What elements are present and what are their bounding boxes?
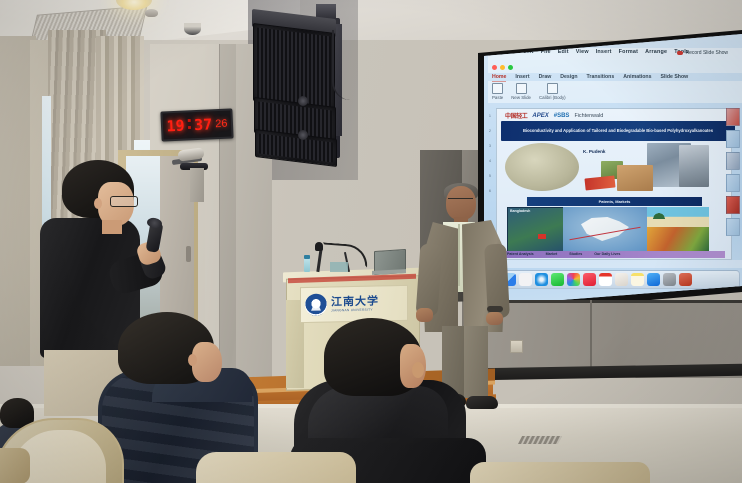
- conference-room-photo: 19 ■■ 37 26 PowerPoint File Edit View In…: [0, 0, 742, 483]
- speaker-hinge: [298, 130, 308, 140]
- red-sample-photo: [584, 175, 615, 190]
- thumb-number-1: 1: [489, 114, 491, 118]
- chair-back[interactable]: [196, 452, 356, 483]
- beach-photo: [647, 207, 709, 228]
- clock-minutes: 37: [194, 115, 213, 134]
- slide-thumbnail[interactable]: [726, 152, 740, 170]
- audience-ear: [188, 354, 197, 366]
- minimize-icon[interactable]: [500, 65, 505, 70]
- questioner-neck: [102, 220, 122, 234]
- presenter-shirt-placket: [458, 224, 460, 286]
- messages-icon[interactable]: [551, 273, 564, 286]
- chair-armrest[interactable]: [0, 448, 30, 483]
- menu-item-arrange[interactable]: Arrange: [645, 49, 667, 55]
- close-icon[interactable]: [492, 65, 497, 70]
- questioner-glasses: [110, 196, 138, 207]
- wall-panel-seam: [590, 300, 592, 374]
- calendar-icon[interactable]: [599, 273, 612, 286]
- slide-thumbnail[interactable]: [726, 130, 740, 148]
- questioner-ear: [94, 198, 102, 209]
- presenter-glasses: [448, 198, 473, 204]
- slide-title-banner: Bioconductivity and Application of Tailo…: [501, 121, 735, 141]
- window-traffic-lights[interactable]: [492, 65, 513, 70]
- slide-canvas[interactable]: 中国轻工 APEX #SBS Fichtenwald Bioconductivi…: [496, 108, 732, 260]
- bioreactor-photo: [679, 145, 709, 187]
- menu-item-format[interactable]: Format: [619, 49, 638, 55]
- line-array-speaker-stack: [252, 4, 346, 164]
- speaker-grille: [259, 133, 333, 162]
- water-bottle[interactable]: [304, 258, 310, 272]
- floor-cable-grate: [518, 436, 562, 444]
- record-slideshow-button[interactable]: Record Slide Show: [677, 50, 728, 56]
- footer-item-3: Studies: [569, 252, 582, 256]
- map-marker-icon: [538, 234, 546, 239]
- sbs-logo: #SBS: [554, 113, 570, 119]
- paste-label: Paste: [492, 95, 503, 100]
- slide-thumbnail[interactable]: [726, 174, 740, 192]
- asia-map: [563, 207, 647, 251]
- clipboard-icon: [492, 83, 503, 94]
- slide-thumbnail-rail[interactable]: [726, 108, 740, 258]
- china-sponsor-logo: 中国轻工: [505, 111, 527, 120]
- settings-icon[interactable]: [663, 273, 676, 286]
- thumb-number-4: 4: [489, 159, 491, 163]
- apex-logo: APEX: [532, 113, 548, 119]
- new-slide-button[interactable]: New Slide: [511, 83, 531, 100]
- clock-hours: 19: [166, 117, 185, 136]
- safari-icon[interactable]: [535, 273, 548, 286]
- dome-camera-icon: [184, 23, 201, 35]
- podium-institution-text: 江南大学 JIANGNAN UNIVERSITY: [331, 295, 379, 312]
- institution-name-cn: 江南大学: [331, 295, 379, 307]
- powerpoint-icon[interactable]: [679, 273, 692, 286]
- chair-back[interactable]: [470, 462, 650, 483]
- ribbon-button-group[interactable]: Paste New Slide Calibri (Body): [492, 83, 566, 100]
- maximize-icon[interactable]: [508, 65, 513, 70]
- clock-seconds: 26: [215, 118, 228, 131]
- speaker-cable: [332, 30, 350, 100]
- photos-icon[interactable]: [567, 273, 580, 286]
- speaker-hinge: [298, 96, 308, 106]
- polymer-pellets-photo: [505, 143, 579, 191]
- slide-author: K. Pudenk: [583, 149, 605, 154]
- font-label: Calibri (Body): [539, 95, 566, 100]
- wood-chips-photo: [617, 165, 653, 191]
- slide-title: Bioconductivity and Application of Tailo…: [523, 128, 713, 133]
- font-icon: [547, 83, 558, 94]
- thumb-number-3: 3: [489, 144, 491, 148]
- music-icon[interactable]: [583, 273, 596, 286]
- appstore-icon[interactable]: [647, 273, 660, 286]
- desk-item: [330, 262, 348, 272]
- footer-item-2: Market: [546, 252, 558, 256]
- food-products-photo: [647, 227, 709, 251]
- paste-button[interactable]: Paste: [492, 83, 503, 100]
- clock-colon: ■■: [187, 119, 191, 132]
- menu-item-edit[interactable]: Edit: [558, 49, 569, 55]
- slide-thumbnail[interactable]: [726, 218, 740, 236]
- slide-thumbnail[interactable]: [726, 196, 740, 214]
- menu-item-view[interactable]: View: [576, 49, 589, 55]
- slide-section-label: Patents, Markets: [599, 199, 631, 204]
- contacts-icon[interactable]: [615, 273, 628, 286]
- smoke-detector-icon: [145, 9, 158, 17]
- record-slideshow-label: Record Slide Show: [685, 50, 728, 56]
- new-slide-label: New Slide: [511, 95, 531, 100]
- slide-section-banner: Patents, Markets: [527, 197, 702, 206]
- notes-icon[interactable]: [631, 273, 644, 286]
- institution-name-en: JIANGNAN UNIVERSITY: [331, 308, 379, 312]
- font-selector[interactable]: Calibri (Body): [539, 83, 566, 100]
- record-icon: [677, 51, 683, 55]
- slide-thumbnail[interactable]: [726, 108, 740, 126]
- sponsor-logo-row: 中国轻工 APEX #SBS Fichtenwald: [505, 111, 603, 120]
- audience-ear: [412, 362, 424, 378]
- thumb-number-5: 5: [489, 174, 491, 178]
- menu-item-insert[interactable]: Insert: [596, 49, 612, 55]
- footer-item-4: Our Daily Lives: [594, 252, 620, 256]
- macos-dock[interactable]: [498, 270, 740, 289]
- led-digital-wall-clock: 19 ■■ 37 26: [160, 108, 233, 141]
- speaker-grille: [257, 27, 331, 106]
- bottle-cap: [304, 255, 310, 259]
- slide-thumbnail-numbers: 1 2 3 4 5 6: [489, 114, 491, 193]
- thumb-number-2: 2: [489, 129, 491, 133]
- window-titlebar: [488, 60, 742, 73]
- fichtenwald-logo: Fichtenwald: [574, 113, 603, 119]
- jiangnan-university-emblem: [305, 294, 327, 316]
- palm-tree-icon: [651, 207, 667, 219]
- new-slide-icon: [516, 83, 527, 94]
